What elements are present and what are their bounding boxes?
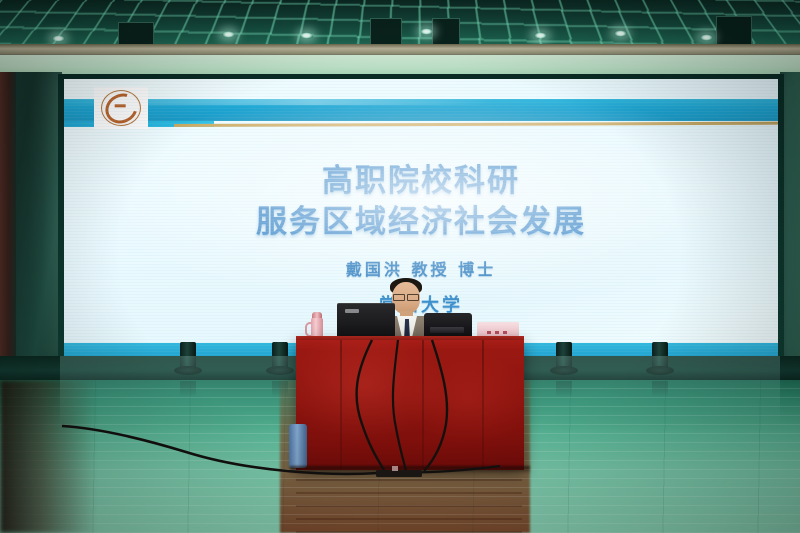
stage-monitor-speaker bbox=[652, 342, 668, 368]
slide-title: 高职院校科研 服务区域经济社会发展 bbox=[64, 161, 778, 243]
floor-shadow-left bbox=[0, 380, 96, 533]
presenter-glasses bbox=[393, 294, 419, 299]
slide-title-line1: 高职院校科研 bbox=[322, 163, 520, 199]
ceiling-light bbox=[420, 28, 433, 35]
university-seal-logo bbox=[94, 87, 148, 129]
pink-box-label bbox=[487, 331, 511, 334]
slide-presenter-line: 戴国洪 教授 博士 bbox=[64, 256, 778, 280]
lecture-hall-photo: 高职院校科研 服务区域经济社会发展 戴国洪 教授 博士 常州大学 bbox=[0, 0, 800, 533]
speaker-reflection bbox=[272, 381, 288, 397]
blue-bag bbox=[289, 424, 307, 468]
cloth-fold bbox=[340, 340, 342, 470]
red-table-cloth bbox=[296, 340, 524, 470]
stage-monitor-speaker bbox=[272, 342, 288, 368]
laptop-brand-badge bbox=[345, 309, 359, 313]
speaker-reflection bbox=[556, 381, 572, 397]
seal-c-glyph bbox=[100, 87, 143, 128]
cloth-fold bbox=[422, 340, 424, 470]
ceiling-light bbox=[700, 34, 713, 41]
header-band-highlight bbox=[64, 99, 778, 105]
seal-outer-ring bbox=[101, 90, 141, 126]
speaker-reflection bbox=[180, 381, 196, 397]
slide-gold-rule bbox=[174, 122, 778, 127]
ceiling-light bbox=[52, 35, 65, 42]
ceiling-light bbox=[222, 31, 235, 38]
slide-title-line2: 服务区域经济社会发展 bbox=[64, 202, 778, 243]
slide-header-band bbox=[64, 99, 778, 121]
left-wall bbox=[0, 72, 62, 402]
speaker-reflection bbox=[652, 381, 668, 397]
bag-panel bbox=[430, 327, 464, 333]
ceiling-light bbox=[534, 32, 547, 39]
stage-monitor-speaker bbox=[180, 342, 196, 368]
ceiling-light bbox=[300, 32, 313, 39]
cloth-fold bbox=[482, 340, 484, 470]
ceiling-light bbox=[614, 30, 627, 37]
table-base-shadow bbox=[290, 466, 530, 474]
stage-monitor-speaker bbox=[556, 342, 572, 368]
